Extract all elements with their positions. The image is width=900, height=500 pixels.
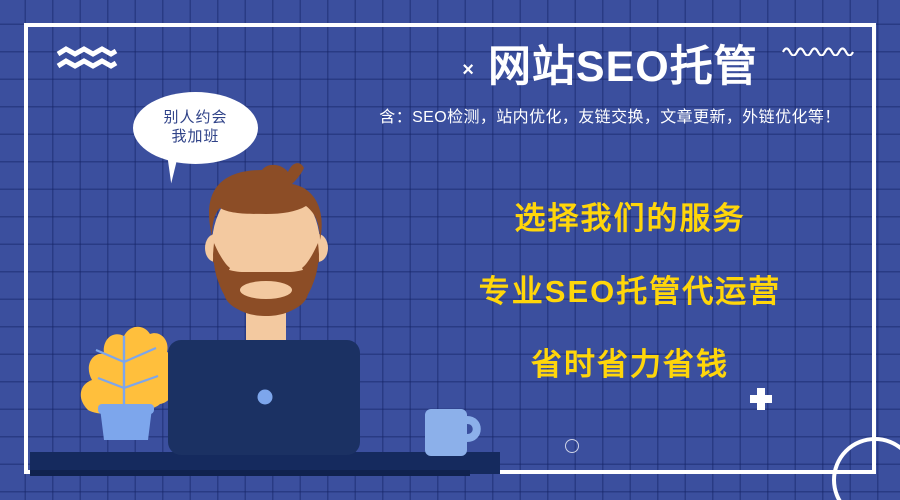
coffee-mug-icon <box>425 409 477 456</box>
speech-bubble-line-2: 我加班 <box>171 128 219 147</box>
plant-icon <box>81 327 177 440</box>
person-head <box>205 163 328 316</box>
desk-edge <box>30 470 470 476</box>
speech-bubble-line-1: 别人约会 <box>163 109 227 128</box>
seo-promo-banner: × 网站SEO托管 含：SEO检测，站内优化，友链交换，文章更新，外链优化等！ … <box>0 0 900 500</box>
illustration-scene <box>0 0 900 500</box>
speech-bubble: 别人约会 我加班 <box>133 92 258 164</box>
laptop-icon <box>168 340 360 455</box>
